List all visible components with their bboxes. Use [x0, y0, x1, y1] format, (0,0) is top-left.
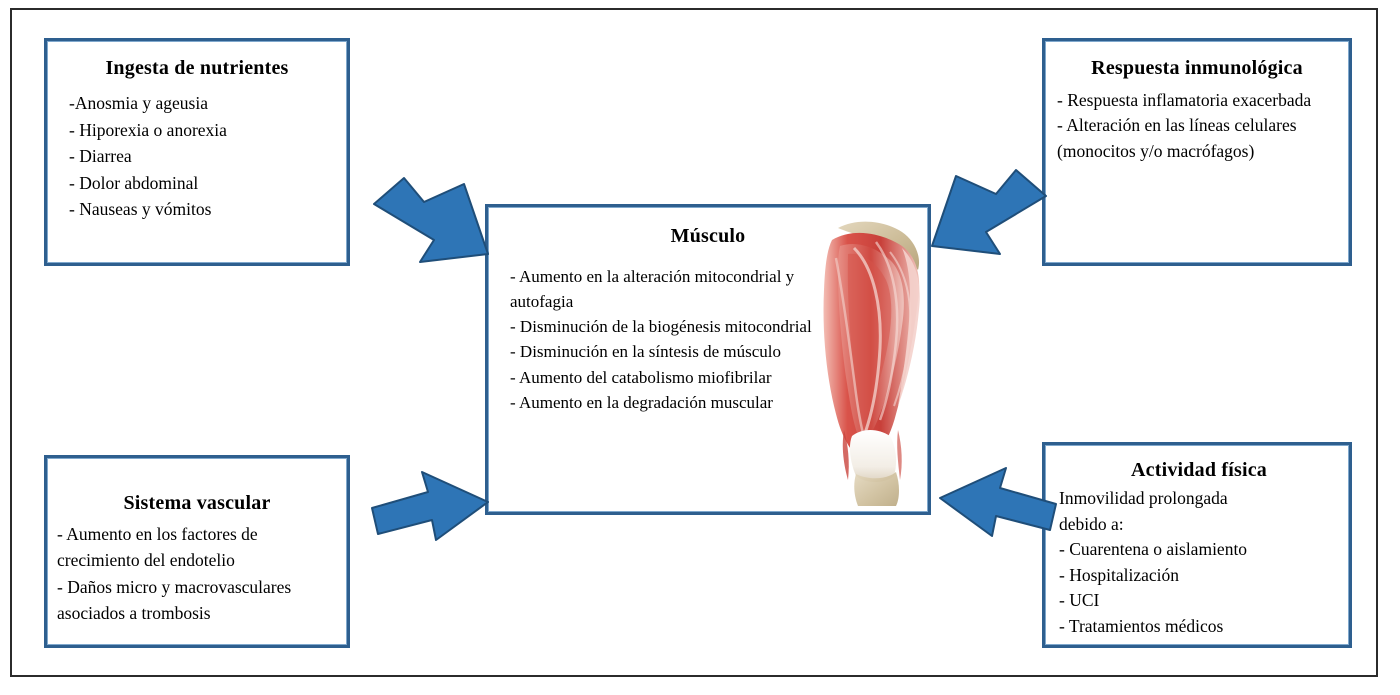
arrow-inmunologica-to-musculo [926, 168, 1052, 270]
list-item: - Respuesta inflamatoria exacerbada [1057, 88, 1337, 113]
list-item: - Disminución en la síntesis de músculo [510, 339, 840, 364]
intro-line: Inmovilidad prolongada [1059, 486, 1339, 512]
list-item: - Daños micro y macrovasculares asociado… [57, 574, 337, 627]
list-item: - UCI [1059, 588, 1339, 614]
list-item: -Anosmia y ageusia [69, 90, 337, 117]
list-item: - Disminución de la biogénesis mitocondr… [510, 314, 840, 339]
arrow-actividad-to-musculo [934, 460, 1058, 544]
arrow-nutrientes-to-musculo [368, 176, 494, 276]
list-item: - Aumento en los factores de crecimiento… [57, 521, 337, 574]
box-list-vascular: - Aumento en los factores de crecimiento… [57, 521, 337, 626]
box-sistema-vascular: Sistema vascular - Aumento en los factor… [44, 455, 350, 648]
box-list-nutrientes: -Anosmia y ageusia - Hiporexia o anorexi… [57, 90, 337, 223]
diagram-canvas: Ingesta de nutrientes -Anosmia y ageusia… [0, 0, 1400, 695]
list-item: - Aumento en la alteración mitocondrial … [510, 264, 840, 314]
list-item: - Nauseas y vómitos [69, 196, 337, 223]
list-item: - Hiporexia o anorexia [69, 117, 337, 144]
box-intro-actividad: Inmovilidad prolongada debido a: [1059, 486, 1339, 537]
list-item: - Hospitalización [1059, 563, 1339, 589]
box-list-inmunologica: - Respuesta inflamatoria exacerbada - Al… [1057, 88, 1337, 164]
list-item: - Alteración en las líneas celulares (mo… [1057, 113, 1337, 164]
box-respuesta-inmunologica: Respuesta inmunológica - Respuesta infla… [1042, 38, 1352, 266]
list-item: - Cuarentena o aislamiento [1059, 537, 1339, 563]
list-item: - Diarrea [69, 143, 337, 170]
box-title-nutrientes: Ingesta de nutrientes [57, 57, 337, 80]
arrow-vascular-to-musculo [370, 466, 494, 548]
box-title-musculo: Músculo [502, 225, 914, 248]
list-item: - Aumento del catabolismo miofibrilar [510, 365, 840, 390]
box-musculo: Músculo - Aumento en la alteración mitoc… [485, 204, 931, 515]
box-list-musculo: - Aumento en la alteración mitocondrial … [502, 264, 840, 415]
box-title-inmunologica: Respuesta inmunológica [1057, 57, 1337, 80]
list-item: - Tratamientos médicos [1059, 614, 1339, 640]
box-title-vascular: Sistema vascular [57, 492, 337, 515]
list-item: - Dolor abdominal [69, 170, 337, 197]
box-title-actividad: Actividad física [1059, 459, 1339, 482]
list-item: - Aumento en la degradación muscular [510, 390, 840, 415]
box-ingesta-de-nutrientes: Ingesta de nutrientes -Anosmia y ageusia… [44, 38, 350, 266]
box-list-actividad: - Cuarentena o aislamiento - Hospitaliza… [1059, 537, 1339, 639]
intro-line: debido a: [1059, 512, 1339, 538]
box-actividad-fisica: Actividad física Inmovilidad prolongada … [1042, 442, 1352, 648]
